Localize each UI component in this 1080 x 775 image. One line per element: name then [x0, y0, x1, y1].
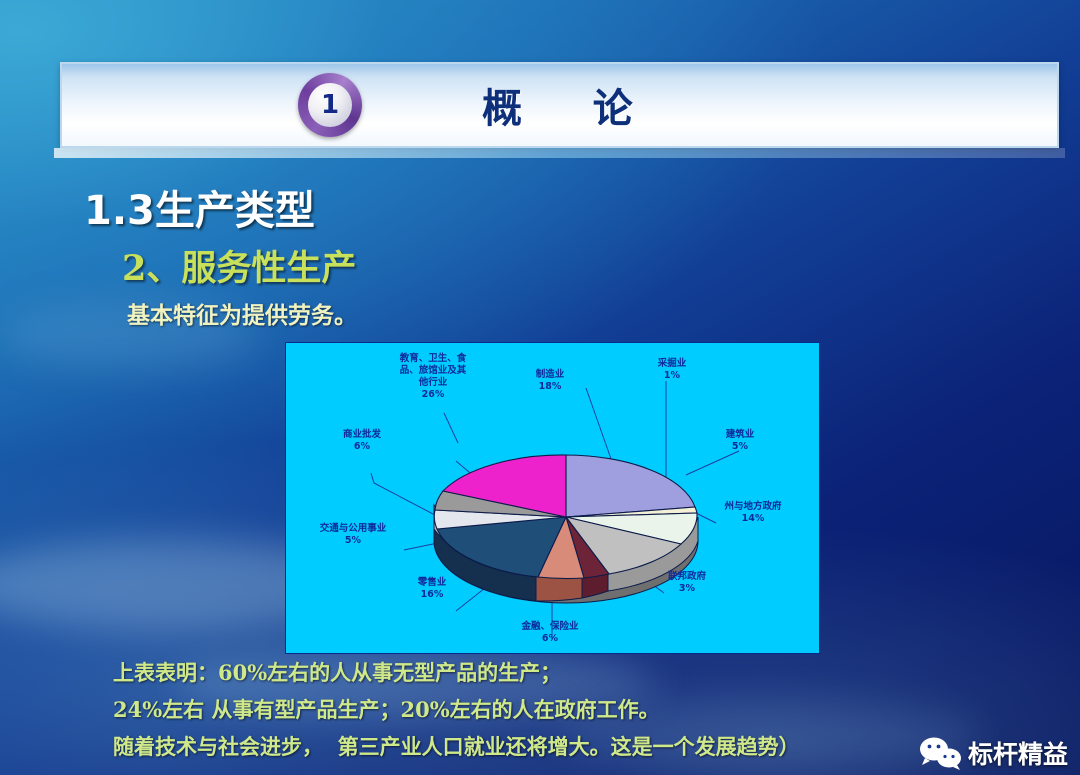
- body-line-1: 上表表明：60%左右的人从事无型产品的生产；: [113, 657, 561, 687]
- heading-section: 1.3生产类型: [84, 178, 315, 236]
- pie-callout-retail: 零售业 16%: [394, 577, 470, 601]
- page-title: 概 论: [482, 76, 636, 134]
- body-line-3: 随着技术与社会进步， 第三产业人口就业还将增大。这是一个发展趋势）: [113, 731, 800, 761]
- pie-callout-mining: 采掘业 1%: [636, 358, 708, 382]
- pie-callout-finance-insurance: 金融、保险业 6%: [498, 621, 602, 645]
- pie-callout-transport-utilities: 交通与公用事业 5%: [294, 523, 412, 547]
- slide-canvas: 1 概 论 1.3生产类型 2、服务性生产 基本特征为提供劳务。: [0, 0, 1080, 775]
- pie-callout-wholesale: 商业批发 6%: [320, 429, 404, 453]
- pie-callout-construction: 建筑业 5%: [704, 429, 776, 453]
- wechat-icon: [919, 736, 963, 770]
- header-banner: 1 概 论: [60, 62, 1059, 148]
- watermark: 标杆精益: [919, 735, 1068, 771]
- pie-callout-manufacturing: 制造业 18%: [514, 369, 586, 393]
- pie-callout-federal-government: 联邦政府 3%: [646, 571, 728, 595]
- section-number-value: 1: [308, 83, 352, 127]
- watermark-text: 标杆精益: [968, 735, 1068, 771]
- heading-note: 基本特征为提供劳务。: [127, 296, 357, 330]
- pie-chart-panel: 教育、卫生、食 品、旅馆业及其 他行业 26% 制造业 18% 采掘业 1% 建…: [285, 342, 820, 654]
- heading-subsection: 2、服务性生产: [122, 240, 356, 291]
- pie-callout-state-local-government: 州与地方政府 14%: [698, 501, 808, 525]
- section-number-badge: 1: [298, 73, 362, 137]
- pie-slices: [434, 455, 697, 579]
- pie-callout-education: 教育、卫生、食 品、旅馆业及其 他行业 26%: [378, 353, 488, 402]
- body-line-2: 24%左右 从事有型产品生产；20%左右的人在政府工作。: [113, 694, 660, 724]
